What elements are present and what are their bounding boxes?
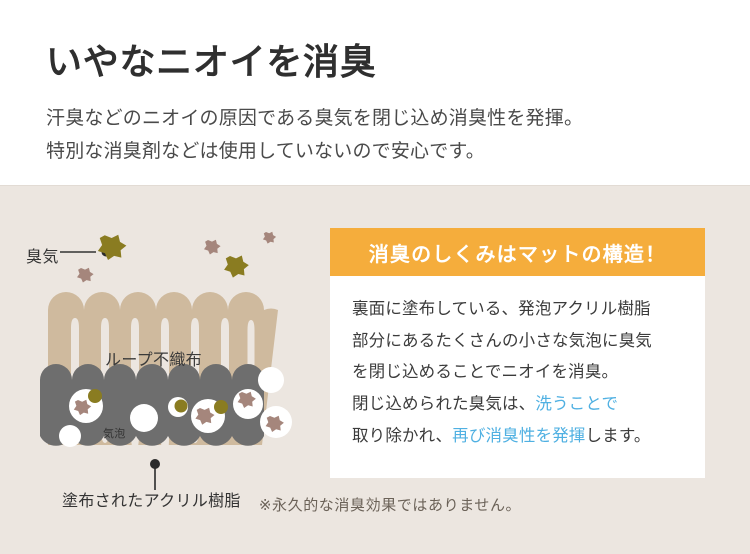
label-air-bubble: 気泡 xyxy=(103,425,125,441)
card-line-3: を閉じ込めることでニオイを消臭。 xyxy=(352,357,683,389)
odor-particles xyxy=(77,232,276,283)
card-line-1: 裏面に塗布している、発泡アクリル樹脂 xyxy=(352,294,683,326)
card-line-4-highlight: 洗うことで xyxy=(535,395,618,413)
page-title: いやなニオイを消臭 xyxy=(46,40,750,84)
mechanism-banner: 消臭のしくみはマットの構造！ xyxy=(330,228,705,276)
label-loop-fabric: ループ不織布 xyxy=(105,346,202,370)
lead-line-2: 特別な消臭剤などは使用していないので安心です。 xyxy=(46,135,750,168)
footnote: ※永久的な消臭効果ではありません。 xyxy=(0,494,750,515)
card-line-5-highlight: 再び消臭性を発揮 xyxy=(452,427,585,445)
lead-line-1: 汗臭などのニオイの原因である臭気を閉じ込め消臭性を発揮。 xyxy=(46,102,750,135)
mechanism-banner-label: 消臭のしくみはマットの構造！ xyxy=(369,238,667,267)
card-line-4: 閉じ込められた臭気は、洗うことで xyxy=(352,389,683,421)
label-odor: 臭気 xyxy=(26,243,59,267)
header-section: いやなニオイを消臭 汗臭などのニオイの原因である臭気を閉じ込め消臭性を発揮。 特… xyxy=(0,0,750,186)
card-line-2: 部分にあるたくさんの小さな気泡に臭気 xyxy=(352,326,683,358)
explanation-card: 裏面に塗布している、発泡アクリル樹脂 部分にあるたくさんの小さな気泡に臭気 を閉… xyxy=(330,276,705,478)
card-line-5: 取り除かれ、再び消臭性を発揮します。 xyxy=(352,421,683,453)
infographic-page: いやなニオイを消臭 汗臭などのニオイの原因である臭気を閉じ込め消臭性を発揮。 特… xyxy=(0,0,750,554)
card-line-4-text: 閉じ込められた臭気は、 xyxy=(352,395,535,413)
resin-leader-line xyxy=(150,459,160,490)
footnote-text: ※永久的な消臭効果ではありません。 xyxy=(229,494,521,515)
card-line-5-text-a: 取り除かれ、 xyxy=(352,427,452,445)
card-line-5-text-b: します。 xyxy=(585,427,650,445)
header-lead: 汗臭などのニオイの原因である臭気を閉じ込め消臭性を発揮。 特別な消臭剤などは使用… xyxy=(46,102,750,169)
